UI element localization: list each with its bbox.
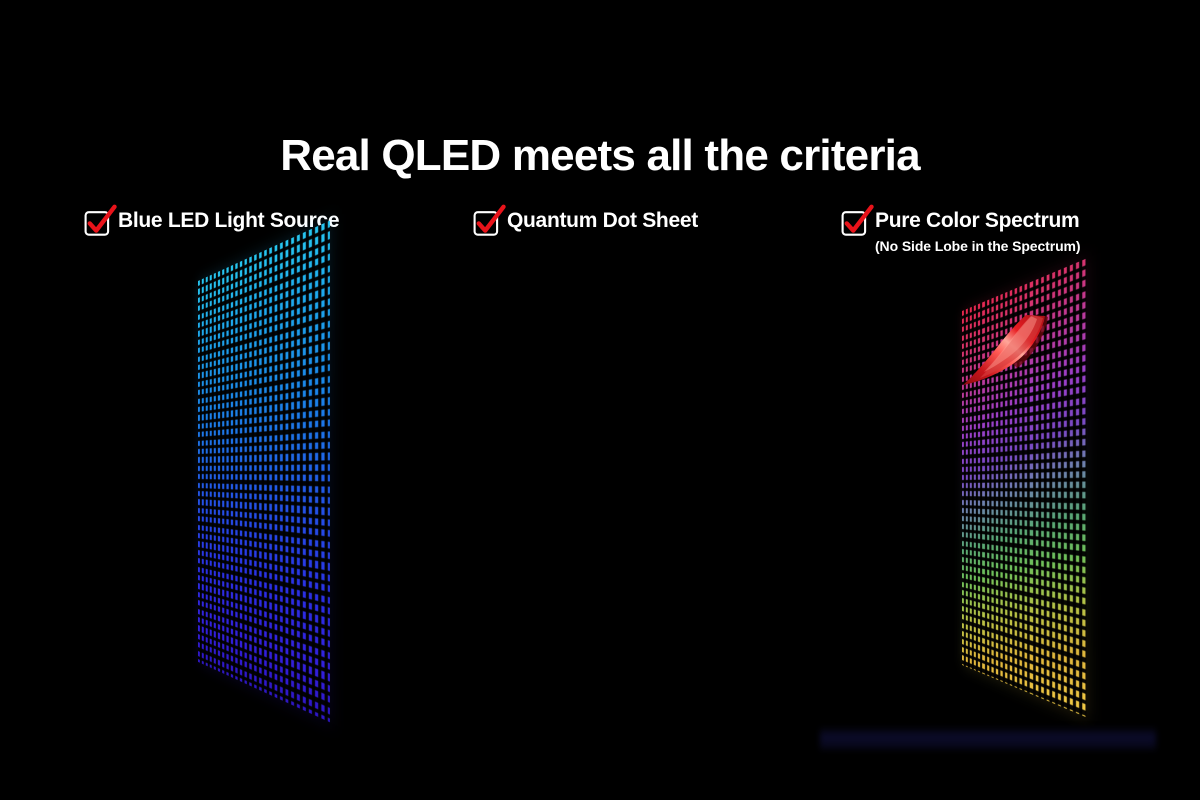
criteria-label-pure-color: Pure Color Spectrum bbox=[875, 208, 1080, 234]
checkbox-checked-icon bbox=[841, 211, 866, 236]
criteria-header-text-pure-color: Pure Color Spectrum (No Side Lobe in the… bbox=[875, 208, 1080, 256]
led-dot-grid-panel bbox=[198, 281, 356, 662]
criteria-header-text-quantum-dot: Quantum Dot Sheet bbox=[507, 208, 698, 234]
criteria-header-blue-led: Blue LED Light Source bbox=[84, 208, 339, 236]
column-quantum-dot-sheet: Quantum Dot Sheet bbox=[450, 0, 810, 800]
led-panel-surface bbox=[198, 220, 330, 722]
column-pure-color-spectrum: Pure Color Spectrum (No Side Lobe in the… bbox=[820, 0, 1200, 800]
criteria-columns: Blue LED Light Source Quantum Dot Sheet bbox=[0, 0, 1200, 800]
checkbox-checked-icon bbox=[473, 211, 498, 236]
criteria-sublabel-pure-color: (No Side Lobe in the Spectrum) bbox=[875, 237, 1080, 256]
criteria-header-pure-color: Pure Color Spectrum (No Side Lobe in the… bbox=[841, 208, 1080, 256]
column-blue-led-light-source: Blue LED Light Source bbox=[60, 0, 420, 800]
checkbox-checked-icon bbox=[84, 211, 109, 236]
criteria-header-quantum-dot: Quantum Dot Sheet bbox=[473, 208, 698, 236]
criteria-label-quantum-dot: Quantum Dot Sheet bbox=[507, 208, 698, 234]
